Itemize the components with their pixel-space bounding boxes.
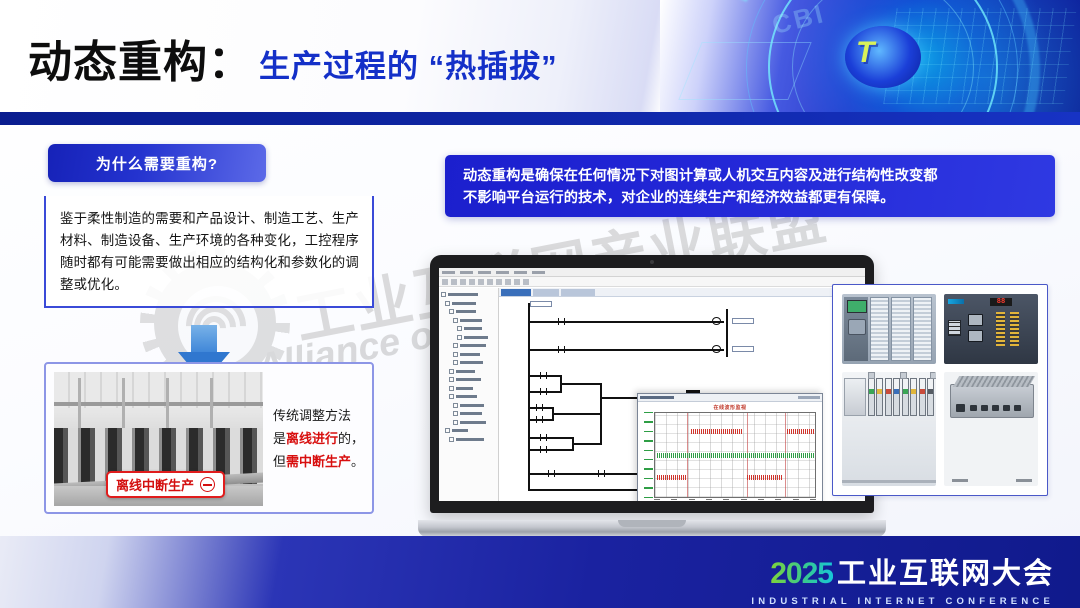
waveform-x-axis bbox=[654, 499, 816, 501]
io-rack-photo bbox=[842, 372, 936, 486]
ladder-logic-canvas[interactable]: 在线波形监视 bbox=[500, 297, 865, 501]
ide-project-tree[interactable] bbox=[439, 288, 499, 501]
question-pill: 为什么需要重构? bbox=[48, 144, 266, 182]
webcam-icon bbox=[650, 260, 654, 264]
banner-line-1: 动态重构是确保在任何情况下对图计算或人机交互内容及进行结构性改变都 bbox=[463, 165, 1037, 187]
waveform-y-axis bbox=[641, 412, 653, 498]
ide-toolbar[interactable] bbox=[439, 277, 865, 287]
prohibited-icon bbox=[200, 477, 215, 492]
note-line-1: 传统调整方法 bbox=[273, 404, 364, 427]
definition-banner: 动态重构是确保在任何情况下对图计算或人机交互内容及进行结构性改变都 不影响平台运… bbox=[445, 155, 1055, 217]
offline-badge-label: 离线中断生产 bbox=[116, 475, 194, 494]
hardware-photos-card: 88 bbox=[832, 284, 1048, 496]
laptop-base bbox=[418, 520, 886, 537]
header-divider-bar bbox=[0, 112, 1080, 125]
waveform-heading: 在线波形监视 bbox=[638, 402, 822, 411]
rationale-body-text: 鉴于柔性制造的需要和产品设计、制造工艺、生产材料、制造设备、生产环境的各种变化，… bbox=[60, 208, 362, 296]
header-t-logo-icon: T bbox=[856, 36, 871, 70]
slide-footer: 2025 工业互联网大会 INDUSTRIAL INTERNET CONFERE… bbox=[0, 536, 1080, 608]
waveform-monitor-window[interactable]: 在线波形监视 bbox=[637, 393, 823, 501]
plc-rack-photo bbox=[842, 294, 936, 364]
ide-menu-bar[interactable] bbox=[439, 268, 865, 277]
laptop-screen: 在线波形监视 bbox=[439, 268, 865, 501]
page-title-sub: 生产过程的 “热插拔” bbox=[259, 41, 558, 86]
controller-module-photo: 88 bbox=[944, 294, 1038, 364]
waveform-window-titlebar[interactable] bbox=[638, 394, 822, 402]
conference-logo: 2025 工业互联网大会 INDUSTRIAL INTERNET CONFERE… bbox=[751, 550, 1054, 607]
waveform-plot-area bbox=[654, 412, 816, 498]
question-pill-label: 为什么需要重构? bbox=[96, 153, 218, 174]
factory-line-photo: 离线中断生产 bbox=[54, 372, 263, 506]
offline-photo-card: 离线中断生产 传统调整方法 是离线进行的， 但需中断生产。 bbox=[44, 362, 374, 514]
banner-line-2: 不影响平台运行的技术，对企业的连续生产和经济效益都更有保障。 bbox=[463, 187, 1037, 209]
laptop-lid: 在线波形监视 bbox=[430, 255, 874, 513]
page-title: 动态重构： 生产过程的 “热插拔” bbox=[28, 26, 558, 90]
conference-name-cn: 工业互联网大会 bbox=[837, 550, 1054, 592]
slide-canvas: CBI T 动态重构： 生产过程的 “热插拔” 工业互联网产业联盟 Allian… bbox=[0, 0, 1080, 608]
offline-interrupt-badge: 离线中断生产 bbox=[106, 471, 225, 498]
industrial-pc-photo bbox=[944, 372, 1038, 486]
conference-year: 2025 bbox=[770, 557, 833, 591]
laptop-notch bbox=[618, 520, 686, 527]
page-title-main: 动态重构： bbox=[28, 26, 253, 90]
note-line-2: 是离线进行的， bbox=[273, 427, 364, 450]
laptop-mockup: 在线波形监视 bbox=[418, 255, 886, 537]
traditional-method-note: 传统调整方法 是离线进行的， 但需中断生产。 bbox=[263, 372, 364, 504]
note-line-3: 但需中断生产。 bbox=[273, 450, 364, 473]
slide-header: CBI T 动态重构： 生产过程的 “热插拔” bbox=[0, 0, 1080, 112]
ide-tab-strip[interactable] bbox=[499, 288, 865, 297]
header-tech-graphic: CBI T bbox=[660, 0, 1080, 112]
conference-name-en: INDUSTRIAL INTERNET CONFERENCE bbox=[751, 596, 1054, 607]
rationale-text-card: 鉴于柔性制造的需要和产品设计、制造工艺、生产材料、制造设备、生产环境的各种变化，… bbox=[44, 196, 374, 308]
